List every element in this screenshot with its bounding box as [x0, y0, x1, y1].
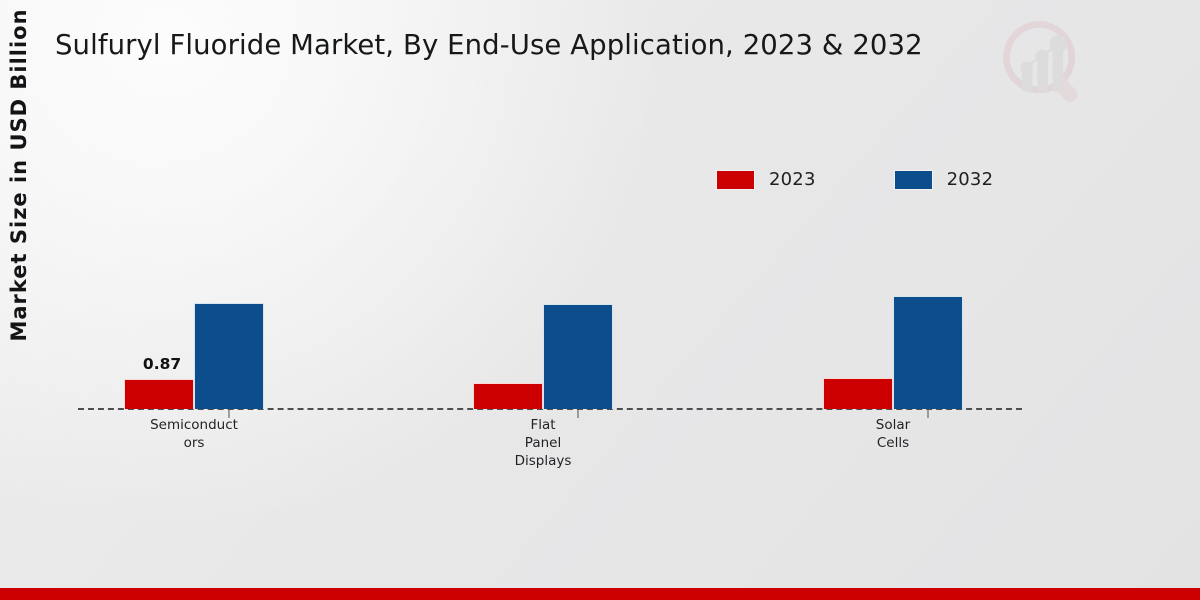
bar-2023-solar-cells[interactable]	[823, 378, 893, 409]
x-axis-label-flat-panel-displays-line-1: Flat	[458, 416, 628, 434]
x-axis-label-solar-cells: Solar Cells	[808, 416, 978, 452]
x-axis-label-solar-cells-line-1: Solar	[808, 416, 978, 434]
bar-2032-semiconductors[interactable]	[194, 303, 264, 409]
legend-swatch-2032	[894, 170, 933, 190]
x-axis-label-flat-panel-displays-line-2: Panel	[458, 434, 628, 452]
x-axis-label-semiconductors-line-1: Semiconduct	[109, 416, 279, 434]
legend-item-2023[interactable]: 2023	[716, 169, 816, 190]
y-axis-title-wrapper: Market Size in USD Billion	[0, 10, 39, 340]
x-axis-label-flat-panel-displays-line-3: Displays	[458, 452, 628, 470]
x-axis-baseline	[78, 408, 1022, 410]
footer-accent-bar	[0, 588, 1200, 600]
x-axis-tick-solar-cells	[928, 409, 929, 418]
legend-swatch-2023	[716, 170, 755, 190]
x-axis-tick-flat-panel-displays	[578, 409, 579, 418]
x-axis-label-flat-panel-displays: Flat Panel Displays	[458, 416, 628, 470]
bar-2032-flat-panel-displays[interactable]	[543, 304, 613, 409]
chart-canvas: Sulfuryl Fluoride Market, By End-Use App…	[0, 0, 1200, 600]
bar-group-flat-panel-displays	[472, 209, 614, 409]
x-axis-label-solar-cells-line-2: Cells	[808, 434, 978, 452]
chart-legend: 2023 2032	[716, 169, 993, 190]
bar-2032-solar-cells[interactable]	[893, 296, 963, 409]
x-axis-label-semiconductors-line-2: ors	[109, 434, 279, 452]
legend-item-2032[interactable]: 2032	[894, 169, 994, 190]
chart-title: Sulfuryl Fluoride Market, By End-Use App…	[55, 29, 1035, 61]
legend-label-2032: 2032	[947, 169, 994, 190]
bar-2023-semiconductors[interactable]: 0.87	[124, 379, 194, 409]
x-axis-label-semiconductors: Semiconduct ors	[109, 416, 279, 452]
y-axis-title: Market Size in USD Billion	[7, 8, 31, 341]
bar-group-solar-cells	[822, 209, 964, 409]
bar-2023-flat-panel-displays[interactable]	[473, 383, 543, 409]
bar-value-label-semiconductors-2023: 0.87	[143, 355, 181, 373]
legend-label-2023: 2023	[769, 169, 816, 190]
bar-group-semiconductors: 0.87	[123, 209, 265, 409]
x-axis-tick-semiconductors	[229, 409, 230, 418]
